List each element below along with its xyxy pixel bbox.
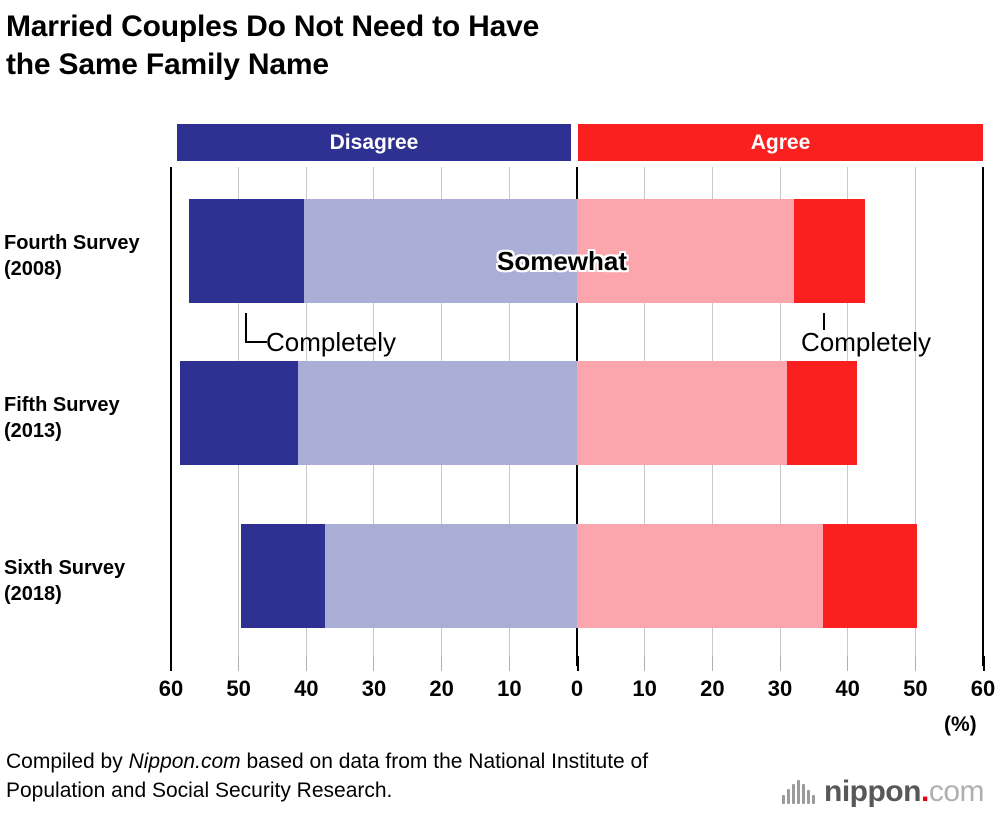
axis-tick xyxy=(373,656,374,671)
bar-segment-completely-disagree xyxy=(241,524,325,628)
axis-tick-label: 0 xyxy=(550,676,604,702)
annotation-somewhat: Somewhat xyxy=(497,246,627,277)
axis-line-right xyxy=(982,167,984,666)
axis-unit-label: (%) xyxy=(944,713,977,737)
axis-tick xyxy=(780,656,781,671)
source-note-emphasis: Nippon.com xyxy=(129,750,241,773)
axis-tick xyxy=(441,656,442,671)
nippon-logo[interactable]: nippon.com xyxy=(782,777,984,807)
chart-plot-area: Disagree Agree 6050403020100102030405060… xyxy=(0,0,1000,760)
bar-segment-completely-agree xyxy=(787,361,857,465)
axis-tick xyxy=(644,656,645,671)
bar-segment-completely-disagree xyxy=(189,199,305,303)
axis-tick xyxy=(712,656,713,671)
axis-tick xyxy=(238,656,239,671)
bar-segment-completely-agree xyxy=(823,524,917,628)
logo-tld: com xyxy=(929,775,984,808)
axis-tick xyxy=(306,656,307,671)
axis-tick-label: 50 xyxy=(212,676,266,702)
axis-tick-label: 40 xyxy=(279,676,333,702)
axis-tick-label: 10 xyxy=(482,676,536,702)
axis-tick-label: 60 xyxy=(144,676,198,702)
source-note: Compiled by Nippon.com based on data fro… xyxy=(6,748,736,806)
legend-agree: Agree xyxy=(578,124,983,161)
source-note-part-2: based on data from the National xyxy=(241,750,546,773)
category-label-name: Sixth Survey xyxy=(4,555,166,581)
annotation-completely-disagree: Completely xyxy=(266,327,396,358)
logo-word-text: nippon xyxy=(824,775,921,808)
bar-segment-completely-disagree xyxy=(180,361,298,465)
axis-tick-label: 40 xyxy=(821,676,875,702)
category-label: Fifth Survey(2013) xyxy=(4,392,166,444)
axis-tick-label: 50 xyxy=(888,676,942,702)
axis-tick-label: 20 xyxy=(415,676,469,702)
axis-tick xyxy=(847,656,848,671)
category-label-year: (2008) xyxy=(4,256,166,282)
axis-tick-label: 10 xyxy=(618,676,672,702)
bar-segment-completely-agree xyxy=(794,199,866,303)
category-label-name: Fifth Survey xyxy=(4,392,166,418)
axis-tick xyxy=(509,656,510,671)
axis-tick-label: 30 xyxy=(347,676,401,702)
category-label-year: (2018) xyxy=(4,581,166,607)
bar-segment-somewhat-disagree xyxy=(298,361,577,465)
category-label: Sixth Survey(2018) xyxy=(4,555,166,607)
axis-tick-label: 20 xyxy=(685,676,739,702)
axis-line-left xyxy=(170,167,172,666)
bar-segment-somewhat-agree xyxy=(577,361,787,465)
axis-tick-label: 30 xyxy=(753,676,807,702)
annotation-completely-agree: Completely xyxy=(801,327,931,358)
category-label-year: (2013) xyxy=(4,418,166,444)
waveform-icon xyxy=(782,780,815,804)
legend-disagree: Disagree xyxy=(177,124,571,161)
category-label-name: Fourth Survey xyxy=(4,230,166,256)
bar-segment-somewhat-disagree xyxy=(325,524,577,628)
logo-wordmark: nippon.com xyxy=(824,777,984,807)
callout-left-leader-line xyxy=(245,313,267,343)
category-label: Fourth Survey(2008) xyxy=(4,230,166,282)
logo-dot: . xyxy=(921,775,929,808)
source-note-part-1: Compiled by xyxy=(6,750,129,773)
axis-tick xyxy=(915,656,916,671)
axis-tick-label: 60 xyxy=(956,676,1000,702)
bar-segment-somewhat-agree xyxy=(577,524,823,628)
